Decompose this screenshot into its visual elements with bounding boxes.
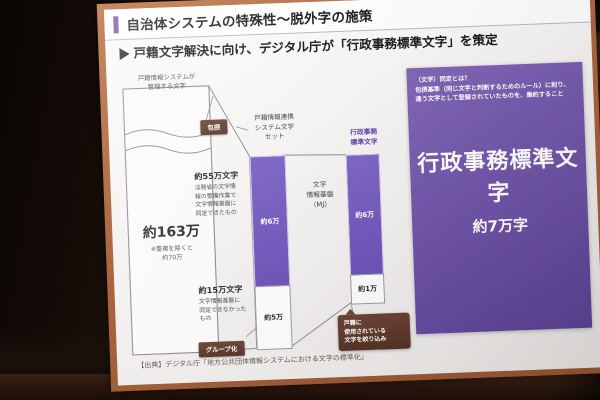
funnel-diagram: 戸籍情報システムが 管理する文字 約163万 ※重複を除くと 約70万 包摂 グ…: [106, 57, 600, 365]
left-bar-value: 約163万: [128, 220, 215, 243]
badge-housetsu: 包摂: [200, 119, 227, 135]
callout-bubble: 戸籍に 使用されている 文字を絞り込み: [338, 312, 411, 351]
mid-white-box: 約5万: [254, 285, 292, 350]
mj-caption: 文字 情報基盤 （MJ）: [296, 179, 343, 211]
panel-note: （文字）同定とは？ 包摂基準（同じ文字と判断するためのルール）に則り、 違う文字…: [415, 70, 576, 105]
projected-slide: 自治体システムの特殊性～脱外字の施策 戸籍文字解決に向け、デジタル庁が「行政事務…: [97, 0, 600, 396]
gyousei-caption: 行政事務 標準文字: [337, 127, 392, 149]
slide-title-bar: 自治体システムの特殊性～脱外字の施策: [104, 0, 591, 41]
right-purple-panel: （文字）同定とは？ 包摂基準（同じ文字と判断するためのルール）に則り、 違う文字…: [406, 62, 592, 334]
panel-count: 約7万字: [412, 212, 589, 240]
triangle-bullet-icon: [119, 48, 129, 60]
page-title: 自治体システムの特殊性～脱外字の施策: [126, 5, 373, 34]
slide-surface: 自治体システムの特殊性～脱外字の施策 戸籍文字解決に向け、デジタル庁が「行政事務…: [104, 0, 600, 385]
mid-caption: 戸籍情報連携 システム文字 セット: [238, 112, 311, 143]
right-white-box: 約1万: [350, 273, 385, 304]
right-purple-bar: 約6万: [346, 154, 385, 277]
mid-purple-bar: 約6万: [250, 155, 291, 288]
panel-headline: 行政事務標準文字: [409, 140, 587, 211]
left-caption: 戸籍情報システムが 管理する文字: [118, 72, 215, 93]
title-accent-bar: [113, 16, 119, 33]
segment-top-label: 約55万文字: [194, 168, 256, 182]
badge-grouping: グループ化: [198, 341, 244, 358]
left-bar-note: ※重複を除くと 約70万: [129, 244, 216, 265]
